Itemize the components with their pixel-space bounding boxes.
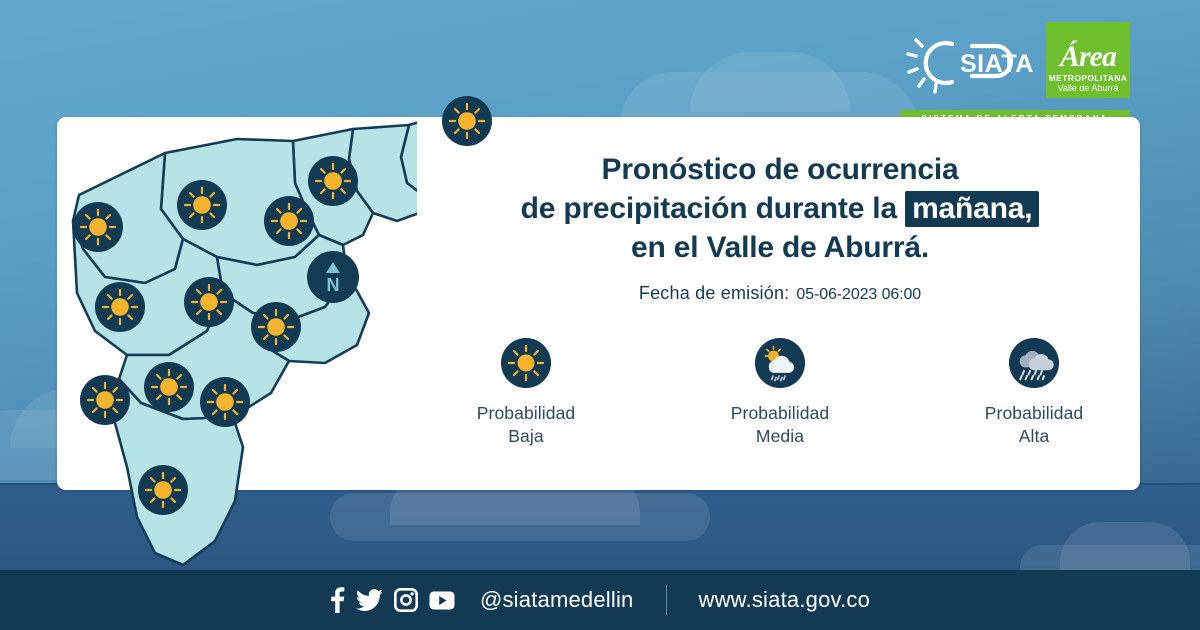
headline-highlight: mañana, bbox=[905, 191, 1039, 227]
map-marker-caldas-sur[interactable] bbox=[138, 465, 188, 515]
issue-date-value: 05-06-2023 06:00 bbox=[796, 286, 921, 304]
valle-de-aburra-map: N bbox=[57, 117, 417, 577]
sun-icon bbox=[264, 196, 314, 246]
area-metropolitana-logo: Área METROPOLITANA Valle de Aburrá bbox=[1046, 22, 1130, 98]
sun-icon bbox=[177, 180, 227, 230]
headline-line-1: Pronóstico de ocurrencia bbox=[430, 150, 1130, 189]
headline-line-2: de precipitación durante la mañana, bbox=[430, 189, 1130, 228]
map-marker-la-estrella[interactable] bbox=[200, 377, 250, 427]
cloud-rain-icon bbox=[1009, 338, 1059, 388]
legend-label-alta: Probabilidad Alta bbox=[985, 402, 1084, 448]
map-marker-copacabana[interactable] bbox=[264, 196, 314, 246]
area-logo-line1: METROPOLITANA bbox=[1049, 73, 1128, 83]
svg-text:SIATA: SIATA bbox=[960, 50, 1034, 78]
legend-baja-line2: Baja bbox=[477, 425, 576, 448]
twitter-icon[interactable] bbox=[356, 589, 383, 612]
background-cloud-icon bbox=[1060, 522, 1190, 572]
legend-media-line2: Media bbox=[731, 425, 830, 448]
sun-icon bbox=[73, 202, 123, 252]
compass-rose: N bbox=[307, 251, 359, 303]
facebook-icon[interactable] bbox=[330, 587, 345, 613]
forecast-content: Pronóstico de ocurrencia de precipitació… bbox=[430, 150, 1130, 448]
map-marker-bello[interactable] bbox=[177, 180, 227, 230]
legend-baja-line1: Probabilidad bbox=[477, 402, 576, 425]
map-marker-medellin[interactable] bbox=[184, 277, 234, 327]
map-marker-sabaneta[interactable] bbox=[144, 362, 194, 412]
legend-alta-line1: Probabilidad bbox=[985, 402, 1084, 425]
issue-date: Fecha de emisión: 05-06-2023 06:00 bbox=[430, 283, 1130, 304]
issue-date-label: Fecha de emisión: bbox=[639, 283, 789, 304]
compass-north-icon: N bbox=[318, 260, 348, 294]
headline-line-3: en el Valle de Aburrá. bbox=[430, 228, 1130, 267]
svg-text:N: N bbox=[327, 275, 340, 294]
legend-alta-line2: Alta bbox=[985, 425, 1084, 448]
sun-icon bbox=[184, 277, 234, 327]
area-logo-line2: Valle de Aburrá bbox=[1058, 83, 1119, 94]
legend-media-line1: Probabilidad bbox=[731, 402, 830, 425]
legend-label-baja: Probabilidad Baja bbox=[477, 402, 576, 448]
sun-icon bbox=[95, 282, 145, 332]
sun-icon bbox=[138, 465, 188, 515]
sun-cloud-rain-icon bbox=[755, 338, 805, 388]
sun-icon bbox=[251, 302, 301, 352]
legend-label-media: Probabilidad Media bbox=[731, 402, 830, 448]
page-title: Pronóstico de ocurrencia de precipitació… bbox=[430, 150, 1130, 267]
sun-icon bbox=[442, 96, 492, 146]
infographic-canvas: SIATA Área METROPOLITANA Valle de Aburrá… bbox=[0, 0, 1200, 630]
probability-legend: Probabilidad Baja bbox=[430, 338, 1130, 448]
sun-icon bbox=[144, 362, 194, 412]
footer-divider bbox=[666, 585, 667, 615]
legend-item-media: Probabilidad Media bbox=[700, 338, 860, 448]
map-marker-envigado[interactable] bbox=[251, 302, 301, 352]
map-shapes bbox=[57, 117, 417, 577]
headline-line-2-text: de precipitación durante la bbox=[521, 192, 897, 225]
youtube-icon[interactable] bbox=[429, 591, 455, 610]
website-url[interactable]: www.siata.gov.co bbox=[699, 587, 871, 613]
sun-icon bbox=[501, 338, 551, 388]
sun-icon bbox=[80, 375, 130, 425]
sun-icon bbox=[308, 156, 358, 206]
sun-icon bbox=[200, 377, 250, 427]
legend-item-baja: Probabilidad Baja bbox=[446, 338, 606, 448]
map-marker-san-pedro[interactable] bbox=[73, 202, 123, 252]
social-handle[interactable]: @siatamedellin bbox=[480, 587, 634, 613]
logo-group: SIATA Área METROPOLITANA Valle de Aburrá… bbox=[900, 22, 1130, 112]
instagram-icon[interactable] bbox=[394, 588, 418, 612]
siata-logo-icon: SIATA bbox=[900, 26, 1040, 98]
social-links bbox=[330, 587, 455, 613]
map-marker-barbosa[interactable] bbox=[442, 96, 492, 146]
map-marker-girardota[interactable] bbox=[308, 156, 358, 206]
map-marker-caldas[interactable] bbox=[80, 375, 130, 425]
footer-bar: @siatamedellin www.siata.gov.co bbox=[0, 570, 1200, 630]
map-marker-itagui[interactable] bbox=[95, 282, 145, 332]
area-logo-script: Área bbox=[1060, 42, 1116, 72]
legend-item-alta: Probabilidad Alta bbox=[954, 338, 1114, 448]
